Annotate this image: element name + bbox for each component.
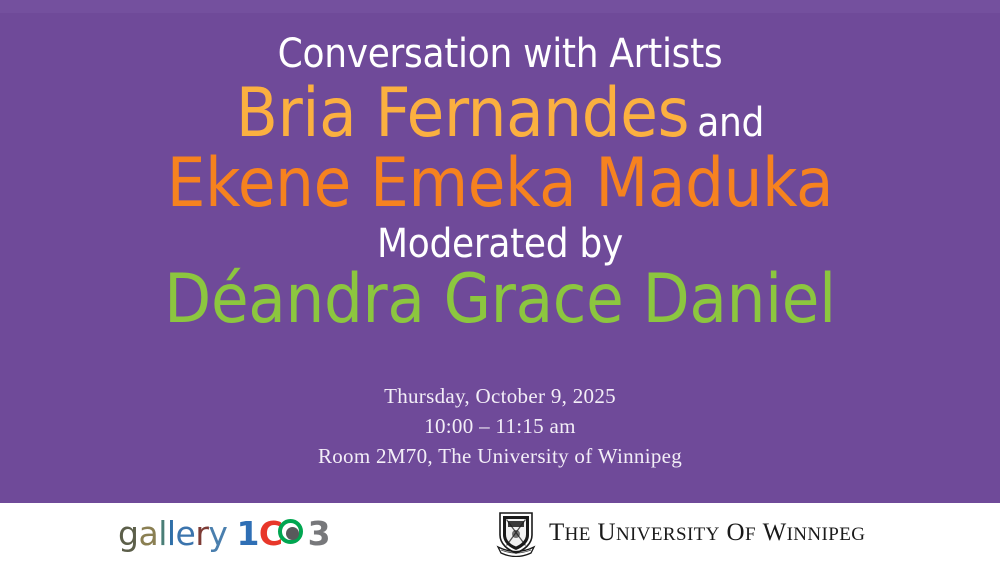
event-poster: Conversation with Artists Bria Fernandes…: [0, 0, 1000, 562]
moderated-by-label: Moderated by: [0, 224, 1000, 264]
gallery-letter-l1: l: [158, 514, 167, 553]
conjunction-and: and: [689, 100, 764, 146]
event-location: Room 2M70, The University of Winnipeg: [0, 442, 1000, 472]
footer-logo-bar: gallery 1C3 THE UNIVERSITY OF WINNIPEG: [0, 503, 1000, 562]
intro-line: Conversation with Artists: [0, 34, 1000, 74]
gallery-aperture-icon: [278, 519, 307, 548]
gallery-letter-y: y: [208, 514, 227, 553]
wordmark-winnipeg-rest: INNIPEG: [787, 524, 866, 545]
wordmark-university-rest: NIVERSITY: [616, 524, 720, 545]
gallery-logo-space: [227, 514, 236, 553]
university-wordmark: THE UNIVERSITY OF WINNIPEG: [549, 519, 865, 547]
gallery-letter-r: r: [195, 514, 208, 553]
aperture-dot: [286, 527, 299, 540]
gallery-1c03-logo: gallery 1C3: [118, 512, 330, 554]
gallery-letter-e: e: [176, 514, 196, 553]
headline-block: Conversation with Artists Bria Fernandes…: [0, 34, 1000, 334]
artist-two-name: Ekene Emeka Maduka: [0, 150, 1000, 218]
gallery-letter-l2: l: [167, 514, 176, 553]
university-of-winnipeg-logo: THE UNIVERSITY OF WINNIPEG: [495, 509, 865, 557]
event-details-block: Thursday, October 9, 2025 10:00 – 11:15 …: [0, 382, 1000, 471]
event-date: Thursday, October 9, 2025: [0, 382, 1000, 412]
artist-one-line: Bria Fernandesand: [0, 80, 1000, 148]
gallery-code-one: 1: [236, 514, 258, 553]
poster-purple-stage: Conversation with Artists Bria Fernandes…: [0, 0, 1000, 503]
moderator-name: Déandra Grace Daniel: [0, 266, 1000, 334]
gallery-code-three: 3: [308, 514, 330, 553]
wordmark-of-rest: F: [745, 524, 756, 545]
gallery-letter-a: a: [138, 514, 158, 553]
event-time: 10:00 – 11:15 am: [0, 412, 1000, 442]
wordmark-the-rest: HE: [565, 524, 591, 545]
wordmark-of-cap: O: [726, 519, 744, 546]
wordmark-university-cap: U: [597, 519, 615, 546]
wordmark-the-cap: T: [549, 519, 565, 546]
artist-one-name: Bria Fernandes: [236, 74, 689, 153]
top-accent-band: [0, 0, 1000, 13]
gallery-letter-g: g: [118, 514, 138, 553]
university-crest-icon: [495, 509, 537, 557]
wordmark-winnipeg-cap: W: [763, 519, 787, 546]
